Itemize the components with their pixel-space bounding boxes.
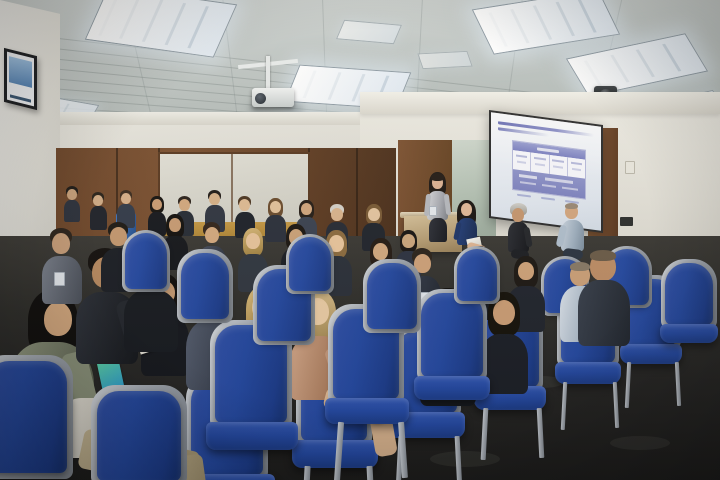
projection-screen [489,110,603,233]
wall-control-panel[interactable] [620,217,633,226]
slide-axis-label [517,194,531,198]
whiteboard-divider [231,152,233,224]
slide-table [512,140,586,200]
name-badge [429,206,437,216]
front-wall-soffit [360,92,720,114]
projector-lens-icon [255,93,266,104]
light-switch-plate[interactable] [625,161,635,174]
projector-mount-pole [266,56,270,92]
slide-axis-label [541,197,555,201]
projected-slide [491,112,601,230]
conference-room-photo [0,0,720,480]
name-badge [54,272,65,286]
ceiling-light-fixture [417,51,472,69]
framed-artwork [4,48,37,110]
